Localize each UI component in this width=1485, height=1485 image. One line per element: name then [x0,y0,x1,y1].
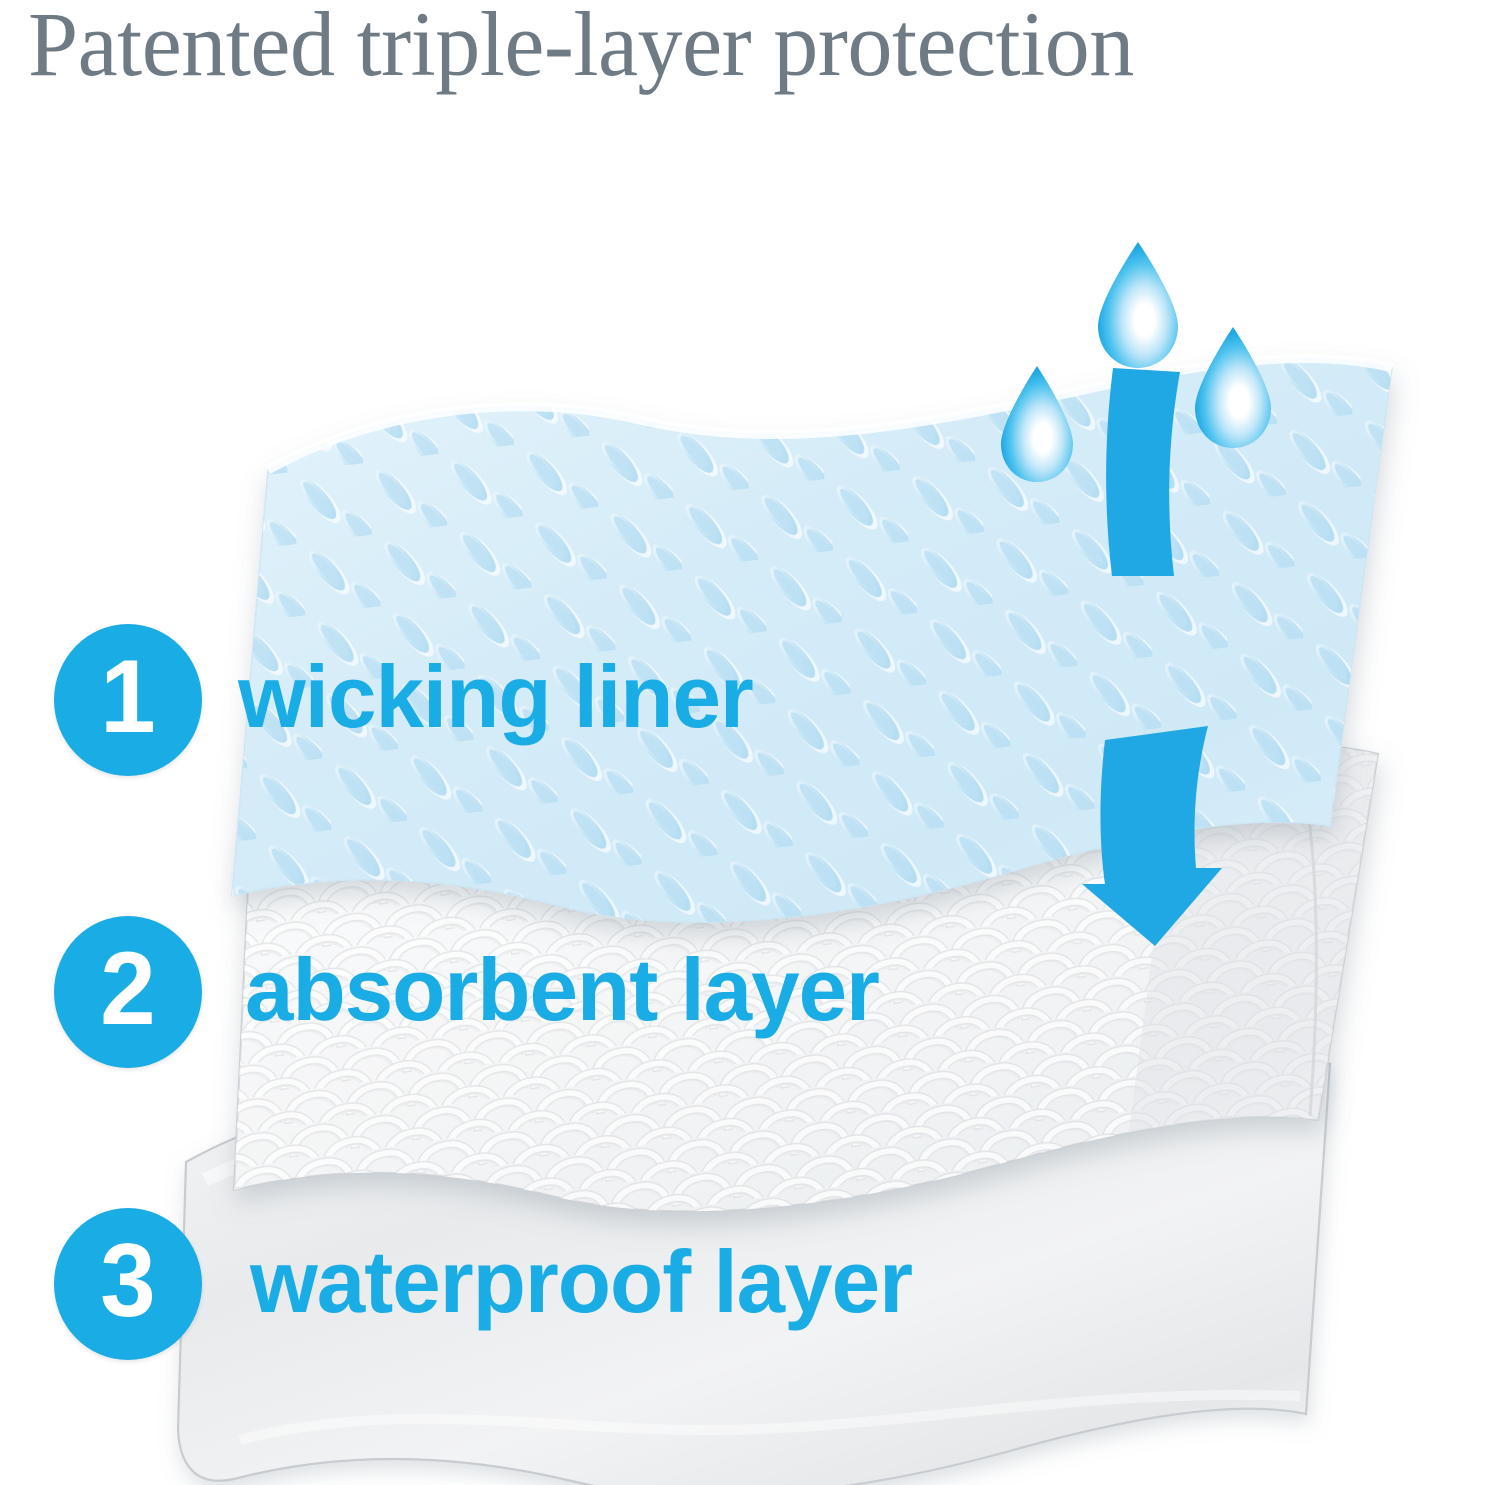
down-arrow-shaft-icon [1106,368,1180,576]
layer-number-badge-3: 3 [54,1208,202,1360]
layer-label-absorbent-layer: absorbent layer [245,946,879,1034]
water-droplet-icon-3 [1195,327,1271,448]
water-droplet-icon-1 [1098,242,1178,368]
layer-number-2: 2 [100,937,156,1041]
layer-number-3: 3 [100,1229,156,1333]
layer-number-badge-2: 2 [54,916,202,1068]
layer-label-wicking-liner: wicking liner [238,653,753,741]
water-droplet-icon-2 [1001,366,1073,482]
layer-number-badge-1: 1 [54,624,202,776]
layer-label-waterproof-layer: waterproof layer [250,1238,912,1326]
infographic-canvas: Patented triple-layer protection [0,0,1485,1485]
layer-number-1: 1 [100,645,156,749]
